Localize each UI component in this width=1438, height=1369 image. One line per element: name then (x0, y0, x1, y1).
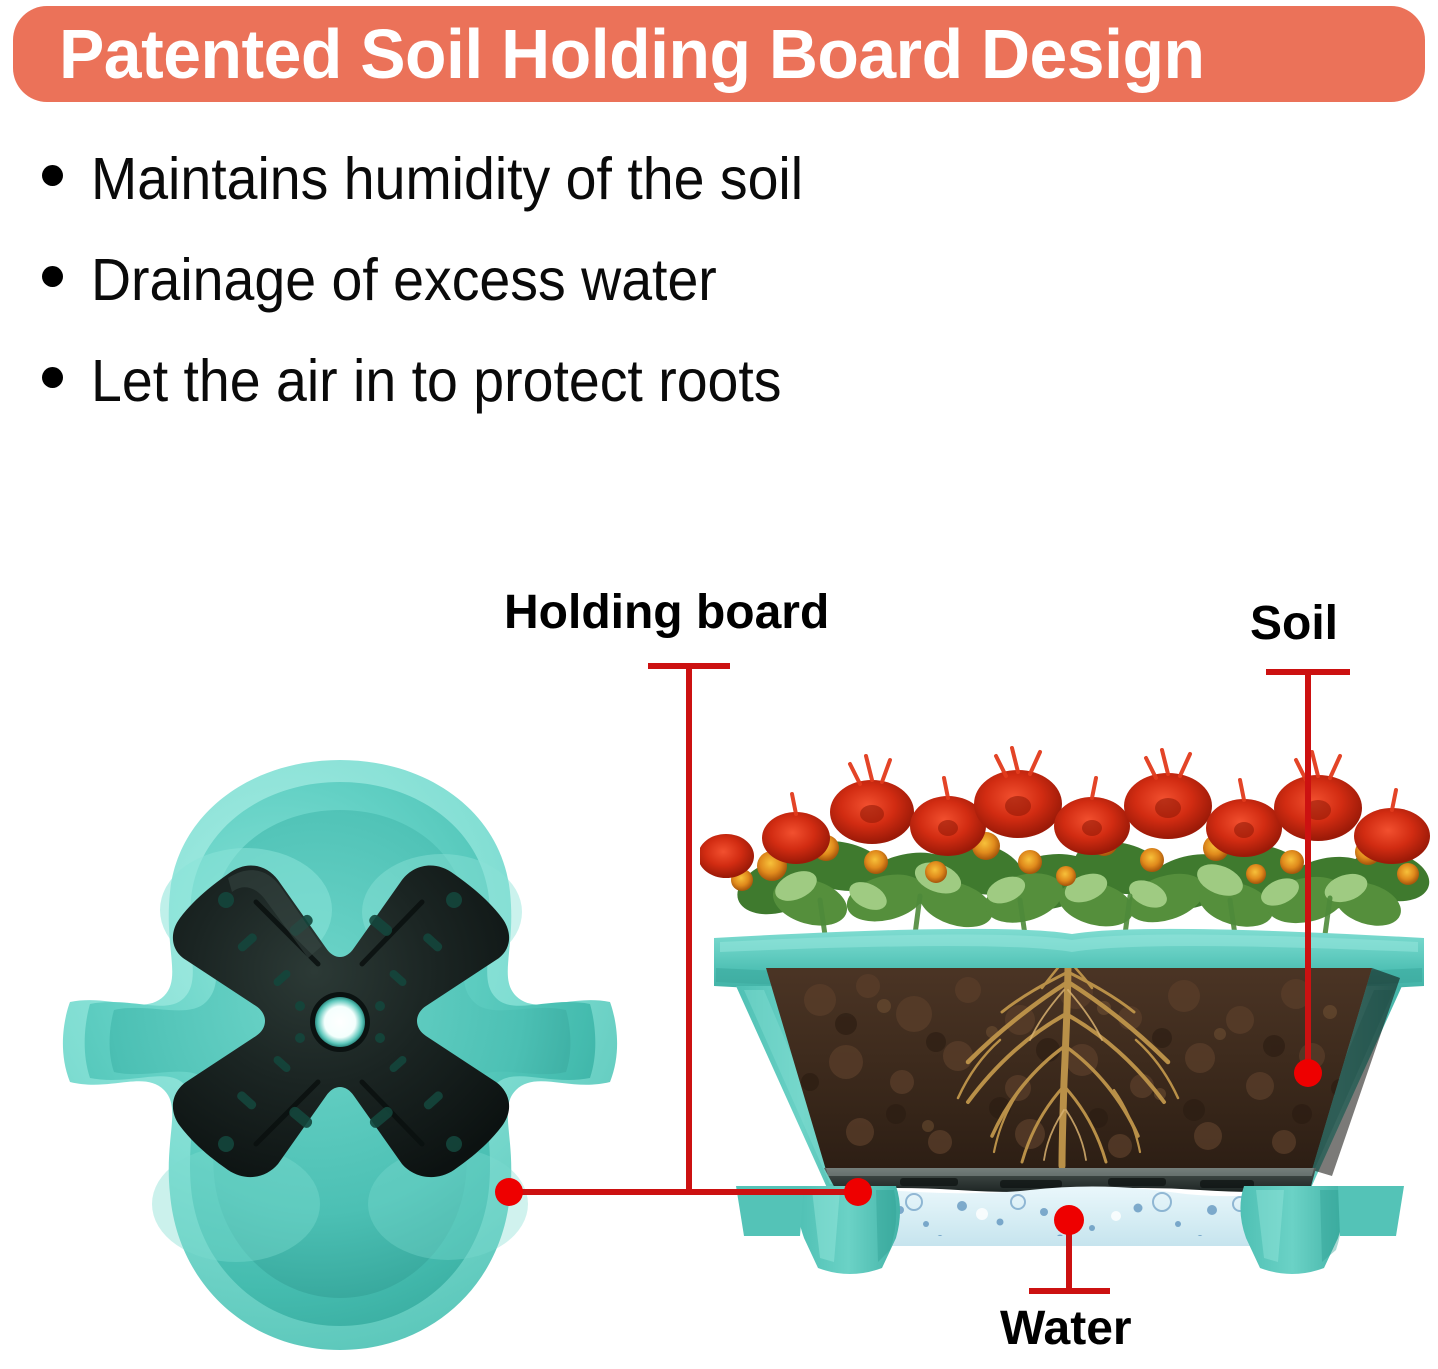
bullet-dot-icon (42, 367, 63, 388)
callout-label-soil: Soil (1250, 600, 1338, 648)
callout-label-water: Water (1000, 1305, 1132, 1353)
header-banner: Patented Soil Holding Board Design (13, 6, 1425, 102)
bullet-dot-icon (42, 165, 63, 186)
soil-layer (760, 958, 1380, 1180)
callout-label-holding-board: Holding board (504, 589, 829, 637)
page-title: Patented Soil Holding Board Design (59, 19, 1204, 89)
list-item-label: Maintains humidity of the soil (91, 150, 803, 209)
feature-list: Maintains humidity of the soil Drainage … (42, 150, 1142, 453)
water-reservoir (840, 1186, 1298, 1246)
product-image-cross-section (700, 690, 1438, 1310)
list-item: Maintains humidity of the soil (42, 150, 1142, 251)
list-item-label: Drainage of excess water (91, 251, 717, 310)
drainage-hole (315, 997, 365, 1047)
list-item: Let the air in to protect roots (42, 352, 1142, 453)
list-item-label: Let the air in to protect roots (91, 352, 782, 411)
bullet-dot-icon (42, 266, 63, 287)
list-item: Drainage of excess water (42, 251, 1142, 352)
product-image-topdown-pot (50, 752, 630, 1362)
